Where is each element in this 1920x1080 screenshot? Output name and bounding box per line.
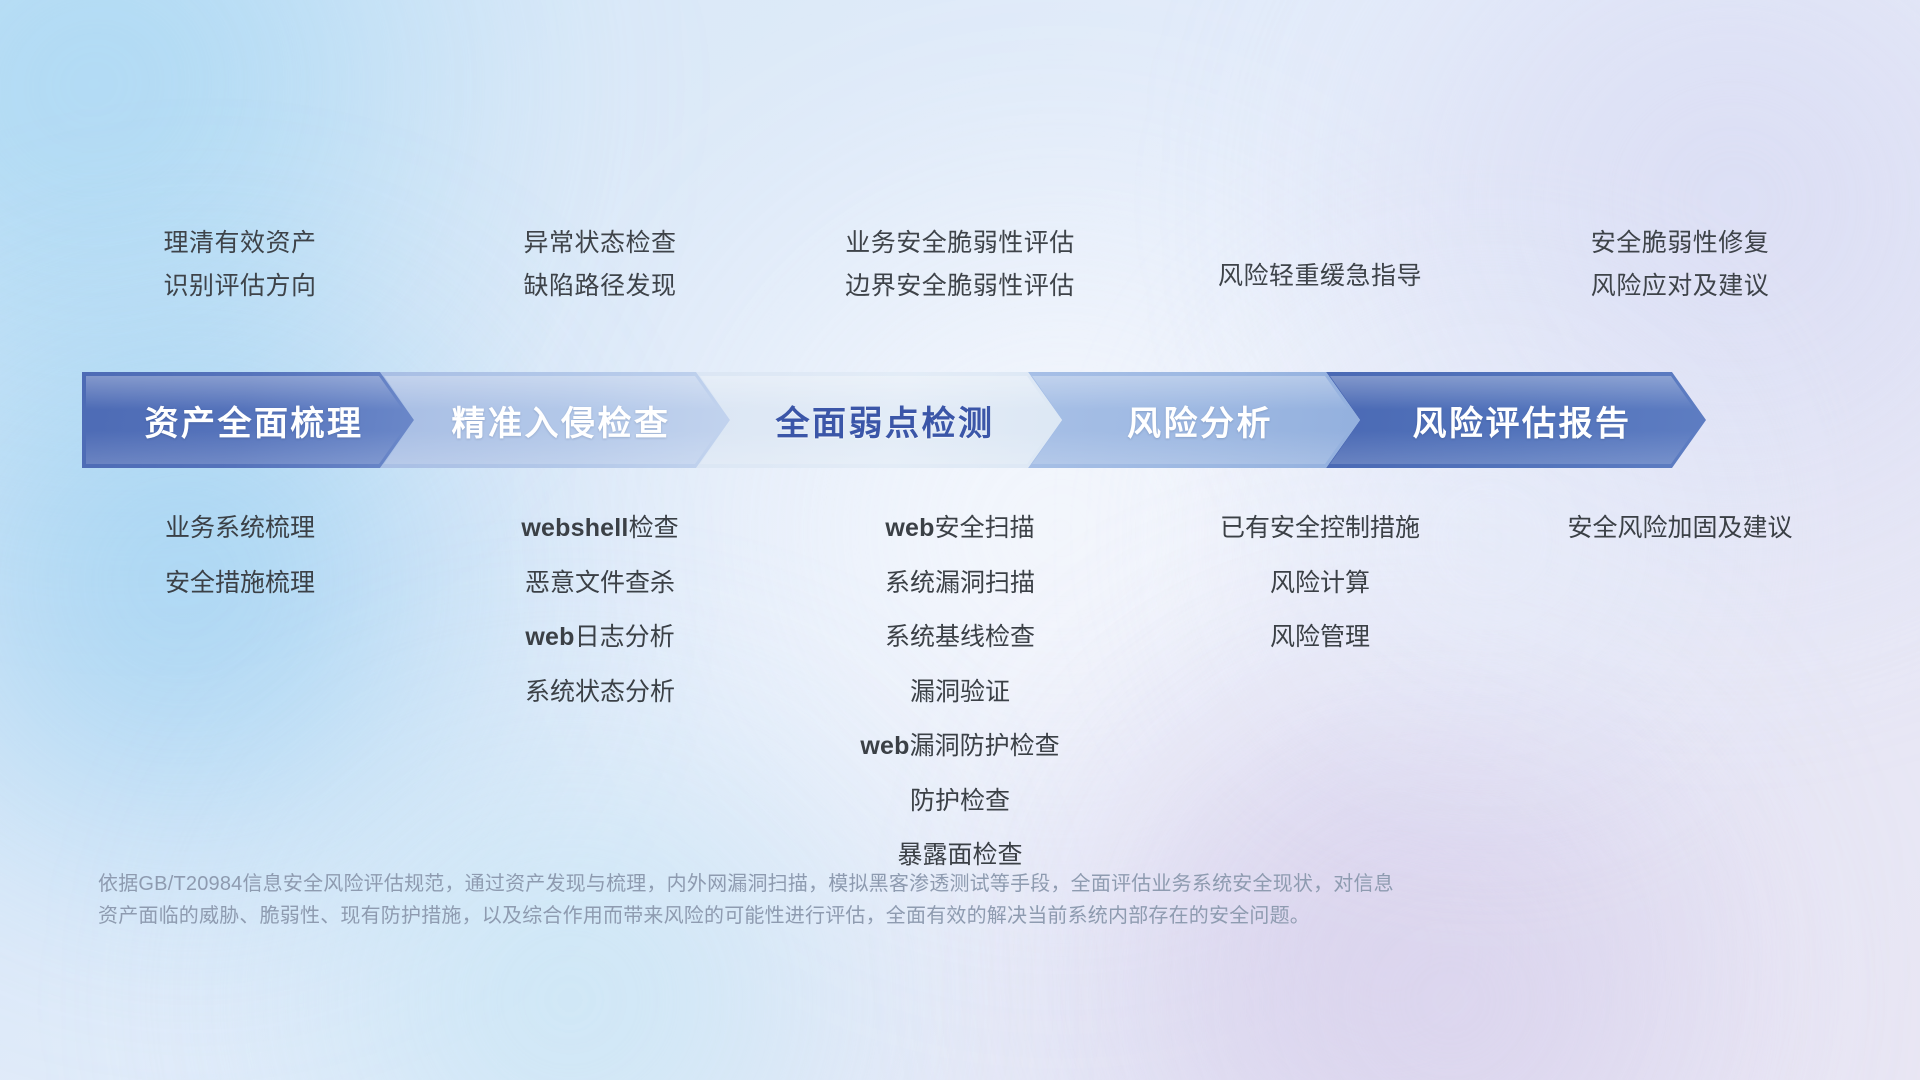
activities-weakness-detection: web安全扫描 系统漏洞扫描 系统基线检查 漏洞验证 web漏洞防护检查 防护检… [780,508,1140,890]
activity-text: 系统漏洞扫描 [885,569,1035,597]
top-outcomes-assessment-report: 安全脆弱性修复 风险应对及建议 [1500,222,1860,308]
activity-text: 漏洞验证 [910,678,1010,706]
activity-text: 风险管理 [1270,623,1370,651]
activity-text: 系统基线检查 [885,623,1035,651]
stage-title: 风险分析 [1115,396,1273,445]
activity-keyword: web [885,514,934,542]
activity-text: 业务系统梳理 [165,514,315,542]
activity-text: 安全措施梳理 [165,569,315,597]
activity-text: 暴露面检查 [897,841,1022,869]
top-outcome-line: 风险轻重缓急指导 [1140,255,1500,298]
activity-text: 漏洞防护检查 [910,732,1060,760]
activity-item: 系统基线检查 [780,617,1140,658]
activity-text: 风险计算 [1270,569,1370,597]
top-outcome-line: 识别评估方向 [60,265,420,308]
stage-title: 风险评估报告 [1401,396,1632,445]
stage-chevron-weakness-detection[interactable]: 全面弱点检测 [696,372,1062,468]
activity-text: 防护检查 [910,787,1010,815]
top-outcome-row: 理清有效资产 识别评估方向 异常状态检查 缺陷路径发现 业务安全脆弱性评估 边界… [60,222,1860,308]
top-outcome-line: 边界安全脆弱性评估 [780,265,1140,308]
stage-title: 精准入侵检查 [440,396,671,445]
process-diagram: 理清有效资产 识别评估方向 异常状态检查 缺陷路径发现 业务安全脆弱性评估 边界… [0,0,1920,1080]
top-outcome-line: 异常状态检查 [420,222,780,265]
footer-line: 依据GB/T20984信息安全风险评估规范，通过资产发现与梳理，内外网漏洞扫描，… [98,868,1638,900]
activity-text: 恶意文件查杀 [525,569,675,597]
stage-chevron-risk-analysis[interactable]: 风险分析 [1028,372,1360,468]
activity-item: 安全风险加固及建议 [1500,508,1860,549]
activity-text: 安全扫描 [935,514,1035,542]
top-outcome-line: 业务安全脆弱性评估 [780,222,1140,265]
activity-text: 系统状态分析 [525,678,675,706]
activity-keyword: webshell [521,514,628,542]
activity-item: web漏洞防护检查 [780,726,1140,767]
activities-assessment-report: 安全风险加固及建议 [1500,508,1860,563]
footer-line: 资产面临的威胁、脆弱性、现有防护措施，以及综合作用而带来风险的可能性进行评估，全… [98,900,1638,932]
top-outcome-line: 风险应对及建议 [1500,265,1860,308]
activity-text: 日志分析 [575,623,675,651]
activity-item: web日志分析 [420,617,780,658]
top-outcome-line: 安全脆弱性修复 [1500,222,1860,265]
activity-item: 系统状态分析 [420,672,780,713]
activity-text: 检查 [629,514,679,542]
top-outcomes-weakness-detection: 业务安全脆弱性评估 边界安全脆弱性评估 [780,222,1140,308]
activity-keyword: web [860,732,909,760]
stage-activity-row: 业务系统梳理 安全措施梳理 webshell检查 恶意文件查杀 web日志分析 … [60,508,1860,890]
footer-description: 依据GB/T20984信息安全风险评估规范，通过资产发现与梳理，内外网漏洞扫描，… [98,868,1638,933]
activity-item: 防护检查 [780,781,1140,822]
activities-asset-inventory: 业务系统梳理 安全措施梳理 [60,508,420,617]
activity-item: 安全措施梳理 [60,563,420,604]
activity-item: 业务系统梳理 [60,508,420,549]
top-outcomes-risk-analysis: 风险轻重缓急指导 [1140,222,1500,308]
stage-title: 全面弱点检测 [764,396,995,445]
activity-item: 漏洞验证 [780,672,1140,713]
stage-chevron-banner: 资产全面梳理 精准入侵检查 全面弱点检测 风险分析 风险评估报告 [82,372,1840,468]
activity-text: 安全风险加固及建议 [1567,514,1792,542]
activity-item: 风险管理 [1140,617,1500,658]
activity-keyword: web [525,623,574,651]
top-outcome-line: 缺陷路径发现 [420,265,780,308]
activities-intrusion-check: webshell检查 恶意文件查杀 web日志分析 系统状态分析 [420,508,780,726]
activity-item: 恶意文件查杀 [420,563,780,604]
activity-item: web安全扫描 [780,508,1140,549]
activity-text: 已有安全控制措施 [1220,514,1420,542]
activity-item: 风险计算 [1140,563,1500,604]
top-outcomes-intrusion-check: 异常状态检查 缺陷路径发现 [420,222,780,308]
activity-item: webshell检查 [420,508,780,549]
activity-item: 已有安全控制措施 [1140,508,1500,549]
activities-risk-analysis: 已有安全控制措施 风险计算 风险管理 [1140,508,1500,672]
top-outcome-line: 理清有效资产 [60,222,420,265]
stage-title: 资产全面梳理 [133,396,364,445]
stage-chevron-intrusion-check[interactable]: 精准入侵检查 [380,372,730,468]
top-outcomes-asset-inventory: 理清有效资产 识别评估方向 [60,222,420,308]
stage-chevron-assessment-report[interactable]: 风险评估报告 [1326,372,1706,468]
stage-chevron-asset-inventory[interactable]: 资产全面梳理 [82,372,414,468]
activity-item: 系统漏洞扫描 [780,563,1140,604]
